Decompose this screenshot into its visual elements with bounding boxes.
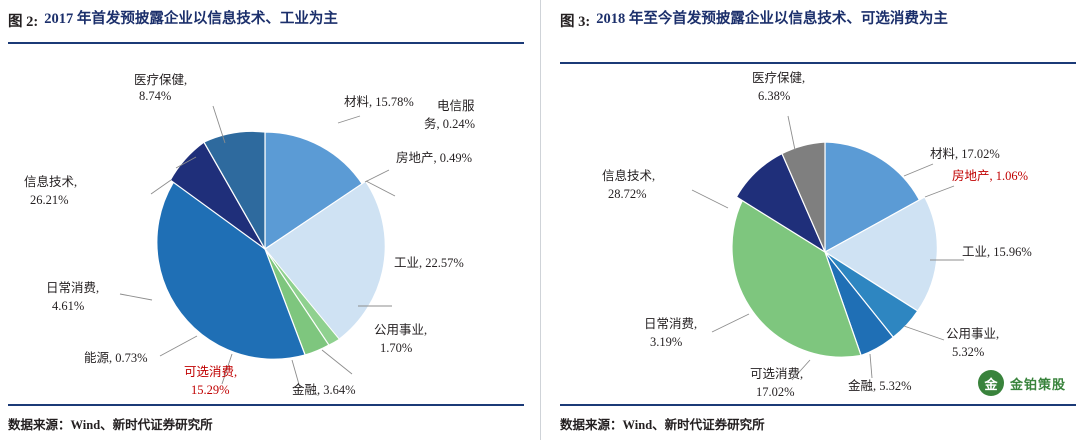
label-industrials: 工业, 15.96%	[962, 245, 1032, 259]
figure-2-source: 数据来源：Wind、新时代证券研究所	[8, 414, 213, 433]
label-utilities: 公用事业,	[946, 327, 999, 341]
label-healthcare-value: 6.38%	[758, 89, 790, 103]
label-healthcare: 医疗保健,	[752, 71, 805, 85]
label-staples: 日常消费,	[644, 317, 697, 331]
label-telecom-value: 务, 0.24%	[424, 116, 475, 131]
label-discretionary-value: 17.02%	[756, 385, 795, 399]
figure-2-chart: 医疗保健, 8.74% 材料, 15.78% 电信服 务, 0.24% 房地产,…	[0, 44, 528, 400]
watermark: 金 金铂策股	[978, 370, 1066, 396]
label-materials: 材料, 15.78%	[344, 95, 414, 109]
figure-3-title: 2018 年至今首发预披露企业以信息技术、可选消费为主	[596, 10, 948, 29]
label-discretionary: 可选消费,	[184, 365, 237, 379]
label-it: 信息技术,	[24, 174, 77, 189]
label-it-value: 26.21%	[30, 193, 69, 207]
pie-slices-2017	[157, 131, 385, 359]
pie-chart-2018: 医疗保健, 6.38% 材料, 17.02% 房地产, 1.06% 工业, 15…	[552, 60, 1080, 400]
figure-2-title-row: 图 2: 2017 年首发预披露企业以信息技术、工业为主	[8, 10, 524, 31]
label-discretionary: 可选消费,	[750, 367, 803, 381]
label-realestate: 房地产, 1.06%	[952, 168, 1028, 183]
figure-3-chart: 医疗保健, 6.38% 材料, 17.02% 房地产, 1.06% 工业, 15…	[552, 60, 1080, 400]
label-financials: 金融, 5.32%	[848, 378, 912, 393]
label-industrials: 工业, 22.57%	[394, 256, 464, 270]
label-discretionary-value: 15.29%	[191, 383, 230, 397]
label-staples-value: 3.19%	[650, 335, 682, 349]
label-utilities-value: 5.32%	[952, 345, 984, 359]
figure-2-title: 2017 年首发预披露企业以信息技术、工业为主	[44, 10, 338, 29]
label-healthcare-value: 8.74%	[139, 89, 171, 103]
label-healthcare: 医疗保健,	[134, 73, 187, 87]
label-realestate: 房地产, 0.49%	[396, 150, 472, 165]
watermark-text: 金铂策股	[1010, 374, 1066, 393]
label-financials: 金融, 3.64%	[292, 382, 356, 397]
label-telecom: 电信服	[437, 99, 475, 113]
label-materials: 材料, 17.02%	[930, 147, 1000, 161]
label-it: 信息技术,	[602, 168, 655, 183]
label-staples: 日常消费,	[46, 281, 99, 295]
label-utilities: 公用事业,	[374, 323, 427, 337]
pie-slices-2018	[732, 142, 937, 357]
figure-2-bottom-rule	[8, 404, 524, 406]
panel-divider	[540, 0, 541, 440]
label-it-value: 28.72%	[608, 187, 647, 201]
label-utilities-value: 1.70%	[380, 341, 412, 355]
figure-2-label: 图 2:	[8, 10, 38, 31]
figure-2-panel: 图 2: 2017 年首发预披露企业以信息技术、工业为主 数据来源：Wind、新…	[0, 0, 528, 440]
figure-3-label: 图 3:	[560, 10, 590, 31]
figure-3-title-row: 图 3: 2018 年至今首发预披露企业以信息技术、可选消费为主	[560, 10, 1076, 31]
figure-3-source: 数据来源：Wind、新时代证券研究所	[560, 414, 765, 433]
watermark-logo-icon: 金	[978, 370, 1004, 396]
label-energy: 能源, 0.73%	[84, 351, 148, 365]
figure-3-panel: 图 3: 2018 年至今首发预披露企业以信息技术、可选消费为主 数据来源：Wi…	[552, 0, 1080, 440]
label-staples-value: 4.61%	[52, 299, 84, 313]
pie-chart-2017: 医疗保健, 8.74% 材料, 15.78% 电信服 务, 0.24% 房地产,…	[0, 44, 528, 400]
figure-3-bottom-rule	[560, 404, 1076, 406]
